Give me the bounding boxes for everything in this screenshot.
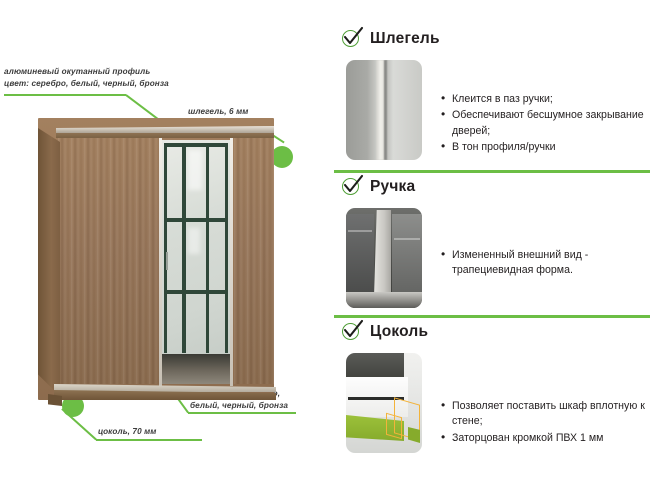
feature-section-shlegel: Шлегель Клеится в паз ручки; Обеспечиваю… [332, 24, 652, 172]
callout-plinth: цоколь, 70 мм [98, 426, 208, 438]
mirror-door-handle [166, 252, 168, 270]
leader-line-profile [4, 94, 126, 96]
leader-line-handles [188, 412, 296, 414]
mirror-mullion-2 [206, 143, 209, 353]
wardrobe-image [38, 118, 274, 400]
door-edge-profile-left [159, 136, 162, 386]
feature-title-shlegel: Шлегель [370, 30, 440, 48]
mirror-rail-2 [164, 290, 228, 294]
list-item: Измененный внешний вид - трапециевидная … [452, 248, 646, 279]
mirror-mullion-1 [182, 143, 186, 353]
list-item: Обеспечивают бесшумное закрывание дверей… [452, 108, 646, 139]
wardrobe-door-right [234, 138, 274, 384]
feature-bullets-handle: Измененный внешний вид - трапециевидная … [436, 208, 652, 308]
callout-shlegel: шлегель, 6 мм [188, 106, 298, 118]
wardrobe-side-panel [38, 128, 60, 396]
leader-line-plinth [96, 439, 202, 441]
wardrobe-door-left [58, 138, 160, 384]
mirror-rail-1 [164, 218, 228, 222]
door-edge-profile-right [230, 136, 233, 386]
check-circle-icon [342, 30, 361, 49]
plinth-photo [346, 353, 422, 453]
feature-body-shlegel: Клеится в паз ручки; Обеспечивают бесшум… [332, 54, 652, 160]
mirror-floor-reflection [162, 354, 230, 384]
feature-section-handle: Ручка Измененный внешний вид - трапециев… [332, 172, 652, 317]
feature-bullets-shlegel: Клеится в паз ручки; Обеспечивают бесшум… [436, 60, 652, 160]
mirror-frame-top [164, 143, 228, 147]
mirror-highlight [188, 150, 202, 190]
mirror-highlight-2 [188, 228, 200, 254]
infographic-page: алюминевый окутанный профильцвет: серебр… [0, 0, 652, 500]
feature-body-plinth: Позволяет поставить шкаф вплотную к стен… [332, 347, 652, 453]
feature-header-plinth: Цоколь [332, 317, 652, 347]
mirror-frame-right [225, 143, 228, 353]
leader-diagonal-profile [126, 94, 161, 121]
feature-title-plinth: Цоколь [370, 323, 428, 341]
feature-title-handle: Ручка [370, 178, 415, 196]
wardrobe-top-edge [56, 133, 274, 138]
features-pane: Шлегель Клеится в паз ручки; Обеспечиваю… [332, 0, 652, 500]
product-illustration-pane: алюминевый окутанный профильцвет: серебр… [0, 0, 332, 500]
mirror-frame-left [164, 143, 167, 353]
feature-bullets-plinth: Позволяет поставить шкаф вплотную к стен… [436, 353, 652, 453]
check-circle-icon [342, 323, 361, 342]
feature-section-plinth: Цоколь Позволяет поставить шкаф вплотную… [332, 317, 652, 482]
shlegel-brush-photo [346, 60, 422, 160]
list-item: Позволяет поставить шкаф вплотную к стен… [452, 399, 646, 430]
feature-body-handle: Измененный внешний вид - трапециевидная … [332, 202, 652, 308]
feature-header-shlegel: Шлегель [332, 24, 652, 54]
wardrobe-mirror-panel [162, 140, 230, 384]
callout-aluminium-profile: алюминевый окутанный профильцвет: серебр… [4, 66, 184, 89]
wardrobe-foot [48, 394, 62, 406]
feature-header-handle: Ручка [332, 172, 652, 202]
list-item: В тон профиля/ручки [452, 140, 646, 155]
handle-profile-photo [346, 208, 422, 308]
list-item: Клеится в паз ручки; [452, 92, 646, 107]
list-item: Заторцован кромкой ПВХ 1 мм [452, 431, 646, 446]
check-circle-icon [342, 178, 361, 197]
marker-dot-shlegel [271, 146, 293, 168]
